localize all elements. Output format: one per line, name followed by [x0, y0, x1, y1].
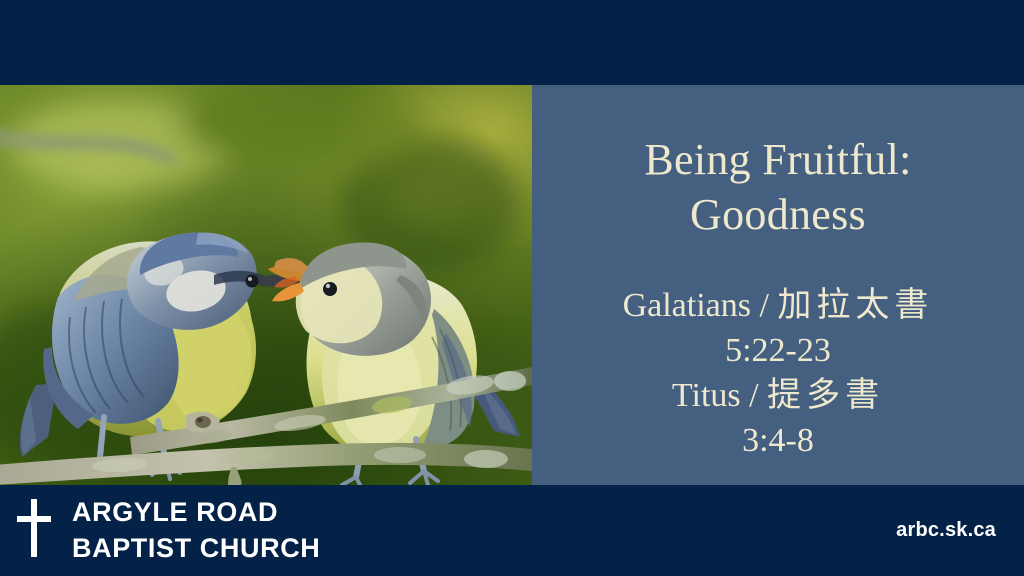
scripture-1-book-cjk: 加拉太書	[777, 287, 933, 324]
church-name-line-1: ARGYLE ROAD	[72, 497, 278, 527]
scripture-reference-1: Galatians / 加拉太書 5:22-23	[548, 284, 1008, 374]
church-name-line-2: BAPTIST CHURCH	[72, 531, 320, 567]
scripture-references: Galatians / 加拉太書 5:22-23 Titus / 提多書 3:4…	[548, 284, 1008, 464]
sermon-title-line-2: Goodness	[690, 190, 866, 239]
church-branding: ARGYLE ROAD BAPTIST CHURCH	[14, 485, 320, 576]
footer-bar: ARGYLE ROAD BAPTIST CHURCH arbc.sk.ca	[0, 485, 1024, 576]
scripture-2-verse: 3:4-8	[742, 422, 814, 459]
text-panel: Being Fruitful: Goodness Galatians / 加拉太…	[532, 85, 1024, 485]
scripture-reference-2: Titus / 提多書 3:4-8	[548, 374, 1008, 464]
scripture-1-book: Galatians /	[623, 287, 778, 324]
church-name: ARGYLE ROAD BAPTIST CHURCH	[72, 495, 320, 566]
scripture-1-verse: 5:22-23	[725, 332, 831, 369]
website-url[interactable]: arbc.sk.ca	[896, 485, 996, 576]
cross-icon	[14, 497, 54, 564]
sermon-title: Being Fruitful: Goodness	[563, 133, 993, 242]
sermon-title-slide: Being Fruitful: Goodness Galatians / 加拉太…	[0, 0, 1024, 576]
sermon-title-line-1: Being Fruitful:	[644, 135, 911, 184]
top-navy-band	[0, 0, 1024, 85]
scripture-2-book: Titus /	[672, 377, 767, 414]
scripture-2-book-cjk: 提多書	[767, 377, 884, 414]
bird-photograph	[0, 85, 532, 485]
